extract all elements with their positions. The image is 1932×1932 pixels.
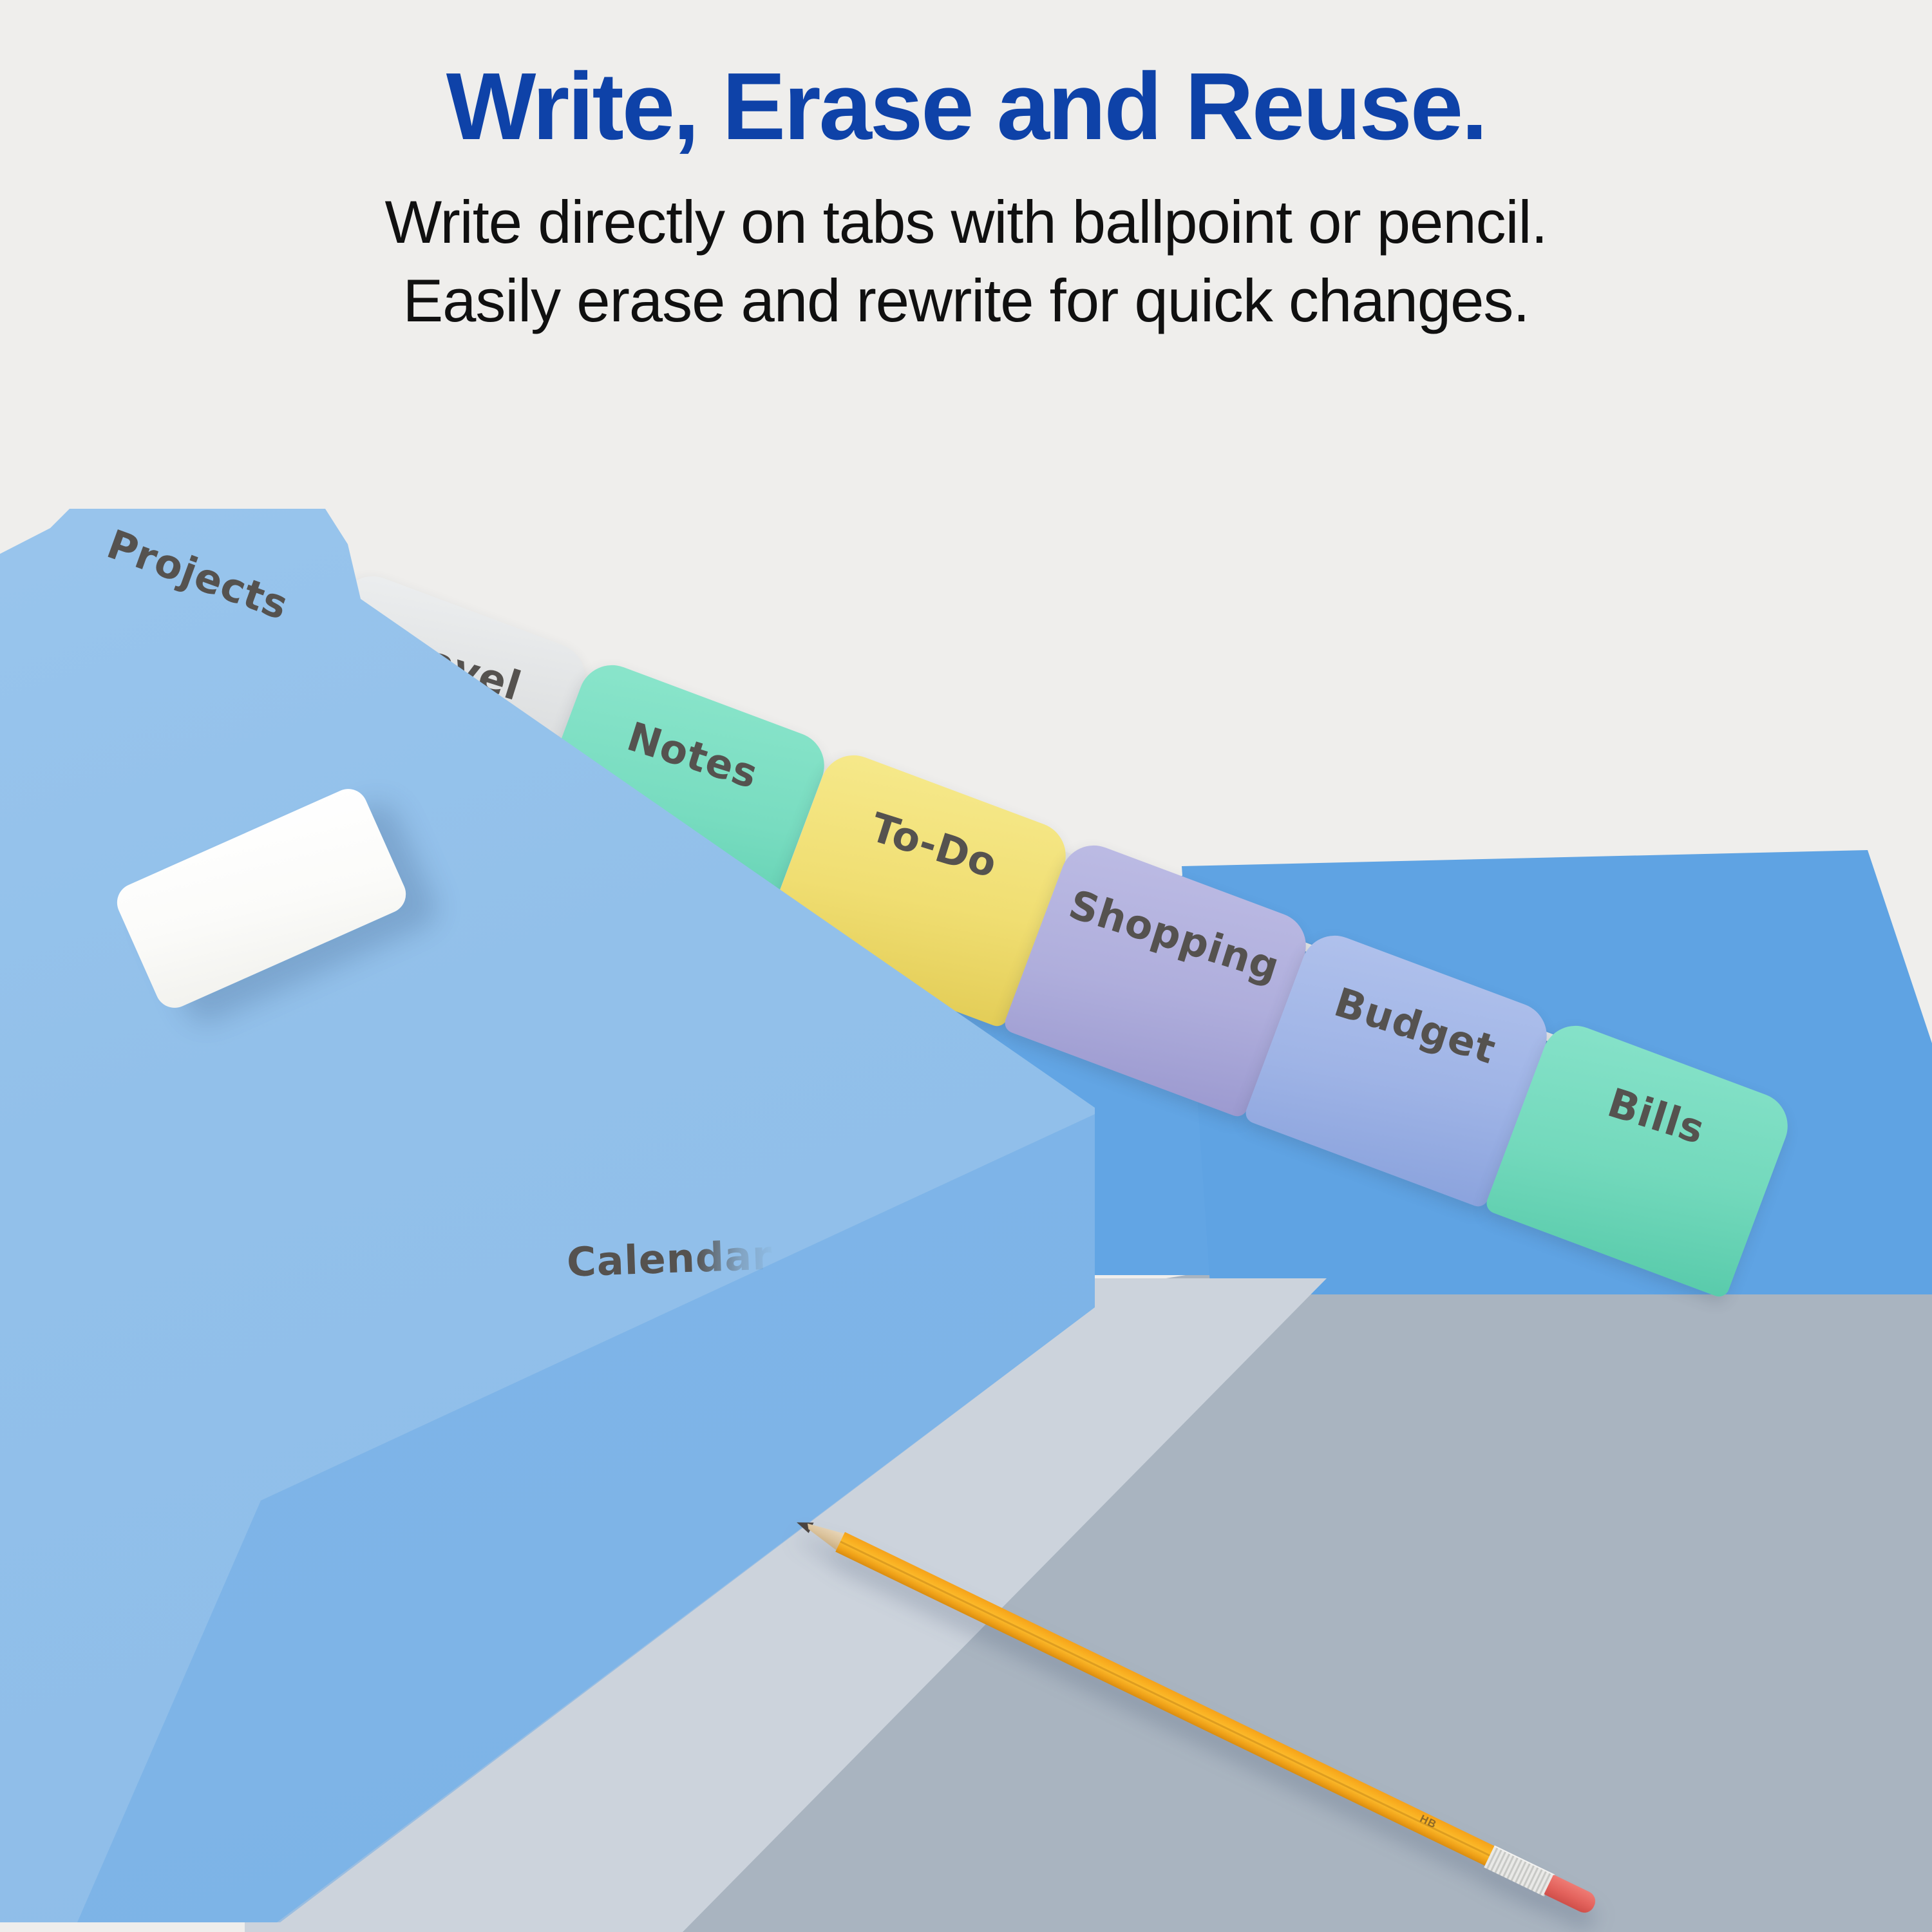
- tab-label-calendar: Calendar: [566, 1231, 773, 1285]
- promo-image: Travel Notes To-Do Shopping Budget Bills: [0, 0, 1932, 1932]
- tab-label: To-Do: [866, 804, 1003, 887]
- page-subtitle: Write directly on tabs with ballpoint or…: [0, 155, 1932, 340]
- page-title: Write, Erase and Reuse.: [0, 0, 1932, 155]
- subtitle-line-2: Easily erase and rewrite for quick chang…: [0, 261, 1932, 340]
- tab-label: Notes: [621, 713, 763, 798]
- header-block: Write, Erase and Reuse. Write directly o…: [0, 0, 1932, 340]
- tab-label: Bills: [1602, 1079, 1710, 1153]
- subtitle-line-1: Write directly on tabs with ballpoint or…: [0, 183, 1932, 261]
- tab-label: Budget: [1329, 978, 1502, 1073]
